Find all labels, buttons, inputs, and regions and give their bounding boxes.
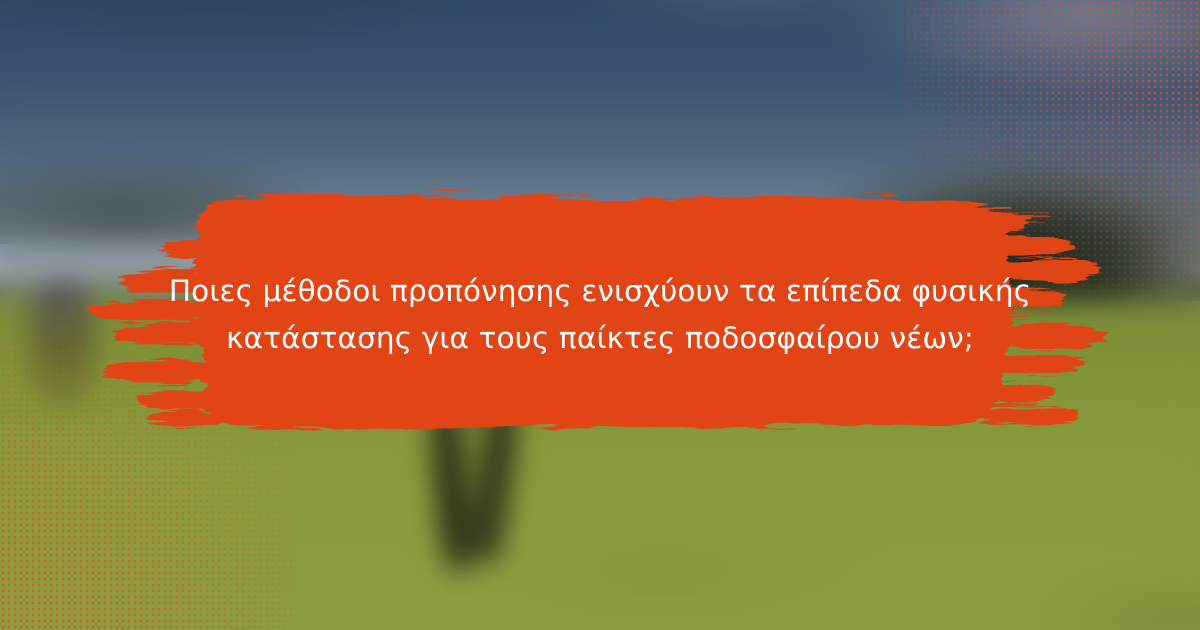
brush-stroke-banner bbox=[0, 186, 1200, 444]
share-card: Ποιες μέθοδοι προπόνησης ενισχύουν τα επ… bbox=[0, 0, 1200, 630]
brush-stroke-svg bbox=[0, 186, 1200, 444]
